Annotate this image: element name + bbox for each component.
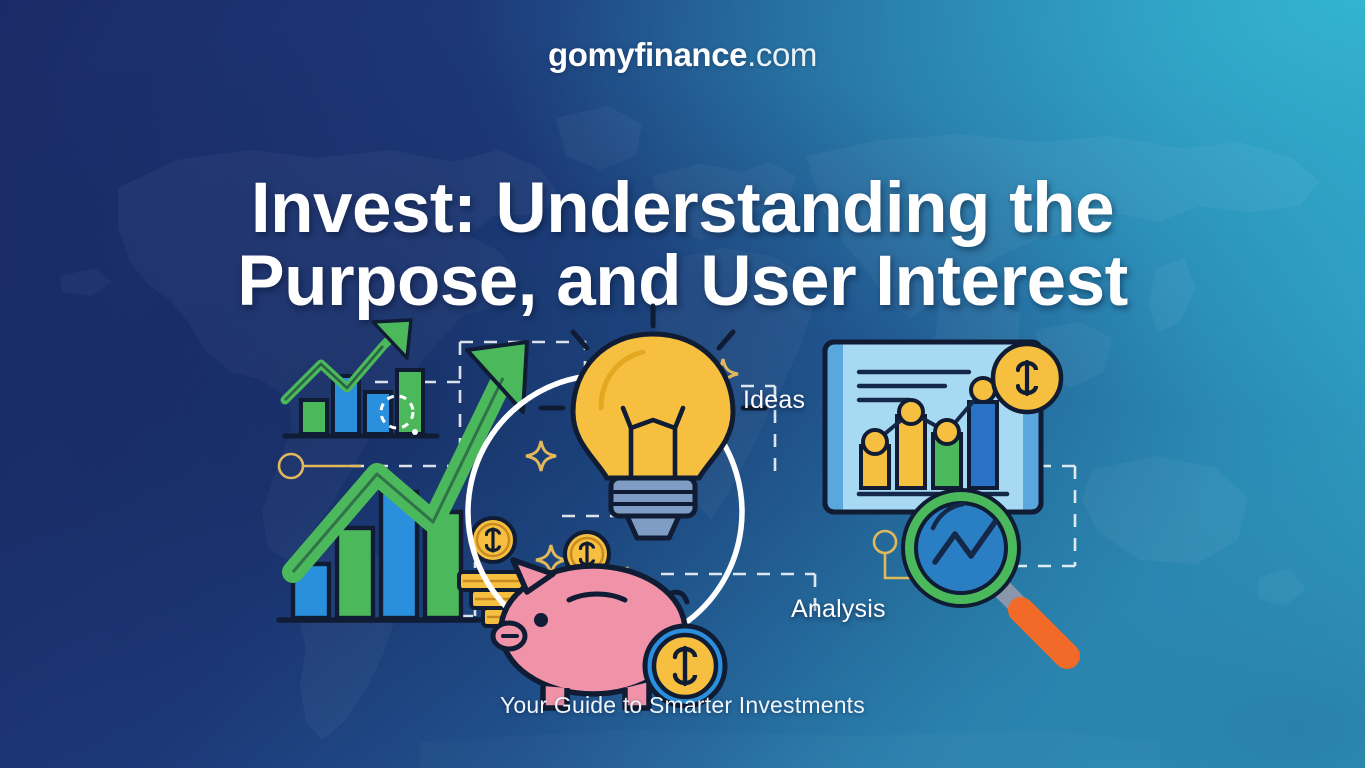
label-analysis: Analysis: [791, 595, 886, 624]
hero-banner: gomyfinance.com Invest: Understanding th…: [0, 0, 1365, 768]
lightbulb-icon: [541, 306, 765, 538]
small-bar-chart-icon: [285, 320, 437, 436]
magnifier-icon: [903, 490, 1067, 656]
label-ideas: Ideas: [743, 386, 805, 415]
brand-name-bold: gomyfinance: [548, 36, 747, 73]
title-line-1: Invest: Understanding the: [251, 169, 1114, 248]
page-subtitle: Your Guide to Smarter Investments: [0, 692, 1365, 719]
page-title: Invest: Understanding the Purpose, and U…: [123, 172, 1243, 320]
finance-illustration: [255, 316, 1115, 666]
sparkle-icon: [526, 441, 556, 471]
brand-logo[interactable]: gomyfinance.com: [0, 36, 1365, 74]
brand-name-tld: .com: [747, 36, 817, 73]
dollar-coin-icon: [993, 344, 1061, 412]
title-line-2: Purpose, and User Interest: [123, 245, 1243, 319]
